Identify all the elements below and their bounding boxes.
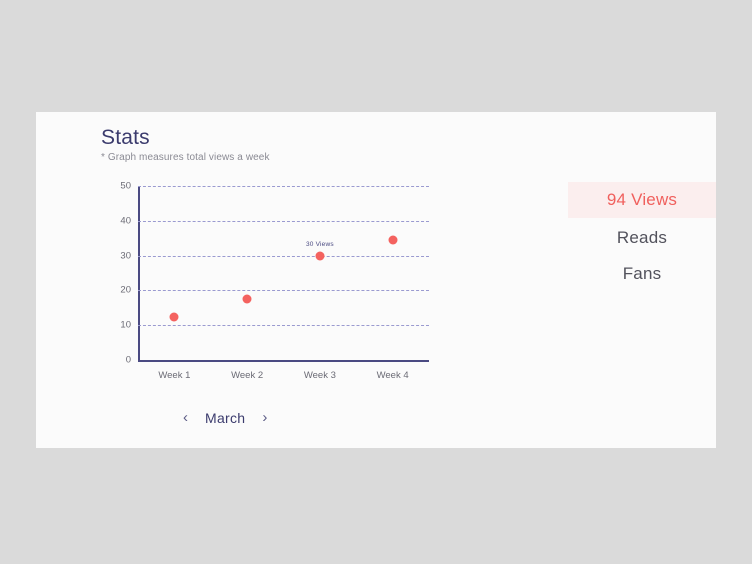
data-point-label: 30 Views: [306, 241, 334, 248]
y-axis-tick-label: 30: [120, 250, 131, 261]
y-axis-tick-label: 20: [120, 285, 131, 296]
y-axis-tick-label: 10: [120, 320, 131, 331]
x-axis-tick-label: Week 3: [304, 370, 336, 381]
metric-tab-fans[interactable]: Fans: [568, 256, 716, 292]
gridline: [138, 290, 429, 291]
stats-card: Stats * Graph measures total views a wee…: [36, 112, 716, 448]
gridline: [138, 325, 429, 326]
gridline: [138, 256, 429, 257]
gridline: [138, 186, 429, 187]
metric-tab-views[interactable]: 94 Views: [568, 182, 716, 218]
data-point[interactable]: [243, 295, 252, 304]
data-point[interactable]: [315, 251, 324, 260]
y-axis-tick-label: 50: [120, 181, 131, 192]
chevron-right-icon[interactable]: ›: [259, 408, 270, 427]
y-axis-tick-label: 40: [120, 215, 131, 226]
x-axis-tick-label: Week 1: [158, 370, 190, 381]
metrics-panel: 94 ViewsReadsFans: [568, 112, 716, 448]
month-label: March: [205, 410, 245, 426]
gridline: [138, 221, 429, 222]
plot-area: 30 Views: [138, 186, 429, 360]
chevron-left-icon[interactable]: ‹: [180, 408, 191, 427]
x-axis-tick-label: Week 4: [377, 370, 409, 381]
metric-tab-reads[interactable]: Reads: [568, 220, 716, 256]
page-title: Stats: [101, 126, 150, 150]
chart-panel: Stats * Graph measures total views a wee…: [36, 112, 568, 448]
x-axis-line: [138, 360, 429, 362]
data-point[interactable]: [170, 312, 179, 321]
y-axis-tick-label: 0: [126, 355, 131, 366]
chart-subtitle: * Graph measures total views a week: [101, 152, 270, 163]
views-chart: 30 Views 01020304050 Week 1Week 2Week 3W…: [82, 180, 442, 392]
x-axis-tick-label: Week 2: [231, 370, 263, 381]
data-point[interactable]: [388, 235, 397, 244]
page-root: Stats * Graph measures total views a wee…: [0, 0, 752, 564]
month-navigation: ‹ March ›: [180, 408, 270, 427]
